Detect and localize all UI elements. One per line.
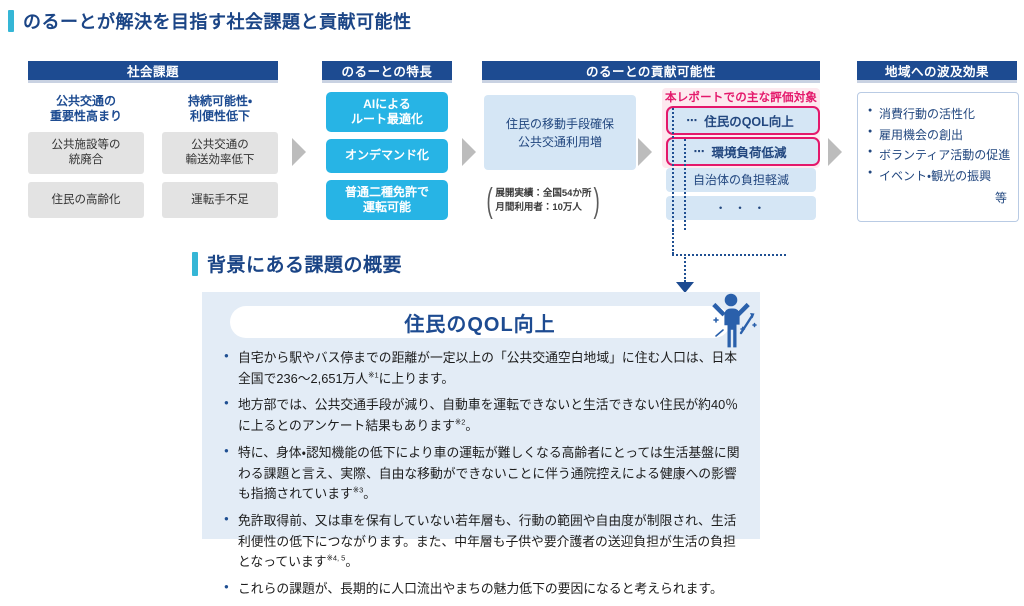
environment-leader-dots: ⋯ bbox=[693, 145, 705, 158]
flow-chevron-3 bbox=[638, 138, 652, 166]
connector-dotted-line-inner bbox=[672, 108, 674, 230]
social-issue-item-2-1: 公共交通の輸送効率低下 bbox=[162, 132, 278, 174]
deployment-note: ( 展開実績：全国54か所 月間利用者：10万人 ) bbox=[484, 182, 636, 220]
note-line-1: 展開実績：全国54か所 bbox=[495, 187, 591, 201]
section-accent-bar bbox=[192, 252, 198, 276]
section-title-text: 背景にある課題の概要 bbox=[207, 250, 402, 277]
social-issue-item-1-2: 住民の高齢化 bbox=[28, 182, 144, 218]
social-issue-group-label-1: 公共交通の重要性高まり bbox=[28, 94, 144, 124]
ripple-effects-list: 消費行動の活性化 雇用機会の創出 ボランティア活動の促進 イベント・観光の振興 bbox=[868, 104, 1010, 187]
social-issue-item-1-1: 公共施設等の統廃合 bbox=[28, 132, 144, 174]
qol-panel-title: 住民のQOL向上 bbox=[230, 306, 730, 338]
page-title-text: のるーとが解決を目指す社会課題と貢献可能性 bbox=[23, 8, 412, 34]
list-item: 消費行動の活性化 bbox=[868, 104, 1010, 125]
list-item: 雇用機会の創出 bbox=[868, 125, 1010, 146]
contribution-other-item-2: ・ ・ ・ bbox=[666, 196, 816, 220]
list-item: 自宅から駅やバス停までの距離が一定以上の「公共交通空白地域」に住む人口は、日本全… bbox=[224, 348, 740, 389]
connector-dotted-line-horizontal bbox=[672, 254, 786, 256]
ripple-effects-tail: 等 bbox=[995, 189, 1007, 206]
social-issue-group-label-2: 持続可能性・利便性低下 bbox=[162, 94, 278, 124]
connector-dotted-line-outer bbox=[684, 139, 686, 230]
list-item: これらの課題が、長期的に人口流出やまちの魅力低下の要因になると考えられます。 bbox=[224, 579, 740, 600]
note-paren-right: ) bbox=[594, 184, 600, 218]
column-header-contribution: のるーとの貢献可能性 bbox=[482, 61, 820, 80]
person-celebrating-icon bbox=[706, 289, 758, 349]
list-item: イベント・観光の振興 bbox=[868, 166, 1010, 187]
feature-item-1: AIによるルート最適化 bbox=[326, 92, 448, 132]
list-item: 免許取得前、又は車を保有していない若年層も、行動の範囲や自由度が制限され、生活利… bbox=[224, 511, 740, 573]
section-title-background: 背景にある課題の概要 bbox=[192, 250, 402, 277]
note-line-2: 月間利用者：10万人 bbox=[495, 201, 591, 215]
flow-chevron-1 bbox=[292, 138, 306, 166]
emphasis-zone-label: 本レポートでの主な評価対象 bbox=[665, 89, 817, 105]
note-paren-left: ( bbox=[487, 184, 493, 218]
flow-chevron-4 bbox=[828, 138, 842, 166]
column-header-social-issues: 社会課題 bbox=[28, 61, 278, 80]
connector-dotted-line-merge bbox=[672, 230, 674, 254]
list-item: ボランティア活動の促進 bbox=[868, 145, 1010, 166]
connector-dotted-line-descend bbox=[684, 254, 686, 282]
title-accent-bar bbox=[8, 10, 14, 32]
qol-leader-dots: ⋯ bbox=[686, 114, 698, 127]
qol-bullet-list: 自宅から駅やバス停までの距離が一定以上の「公共交通空白地域」に住む人口は、日本全… bbox=[224, 348, 740, 606]
feature-item-2: オンデマンド化 bbox=[326, 139, 448, 173]
list-item: 特に、身体・認知機能の低下により車の運転が難しくなる高齢者にとっては生活基盤に関… bbox=[224, 443, 740, 505]
emphasis-item-environment: ⋯ 環境負荷低減 bbox=[666, 137, 820, 166]
diagram-canvas: のるーとが解決を目指す社会課題と貢献可能性 社会課題 公共交通の重要性高まり 持… bbox=[0, 0, 1024, 558]
flow-chevron-2 bbox=[462, 138, 476, 166]
contribution-other-item-1: 自治体の負担軽減 bbox=[666, 168, 816, 192]
emphasis-item-qol: ⋯ 住民のQOL向上 bbox=[666, 106, 820, 135]
list-item: 地方部では、公共交通手段が減り、自動車を運転できないと生活できない住民が約40％… bbox=[224, 395, 740, 436]
column-header-features: のるーとの特長 bbox=[322, 61, 452, 80]
page-title: のるーとが解決を目指す社会課題と貢献可能性 bbox=[8, 8, 412, 34]
column-header-ripple-effects: 地域への波及効果 bbox=[857, 61, 1017, 80]
feature-item-3: 普通二種免許で運転可能 bbox=[326, 180, 448, 220]
social-issue-item-2-2: 運転手不足 bbox=[162, 182, 278, 218]
contribution-primary-box: 住民の移動手段確保 公共交通利用増 bbox=[484, 95, 636, 170]
